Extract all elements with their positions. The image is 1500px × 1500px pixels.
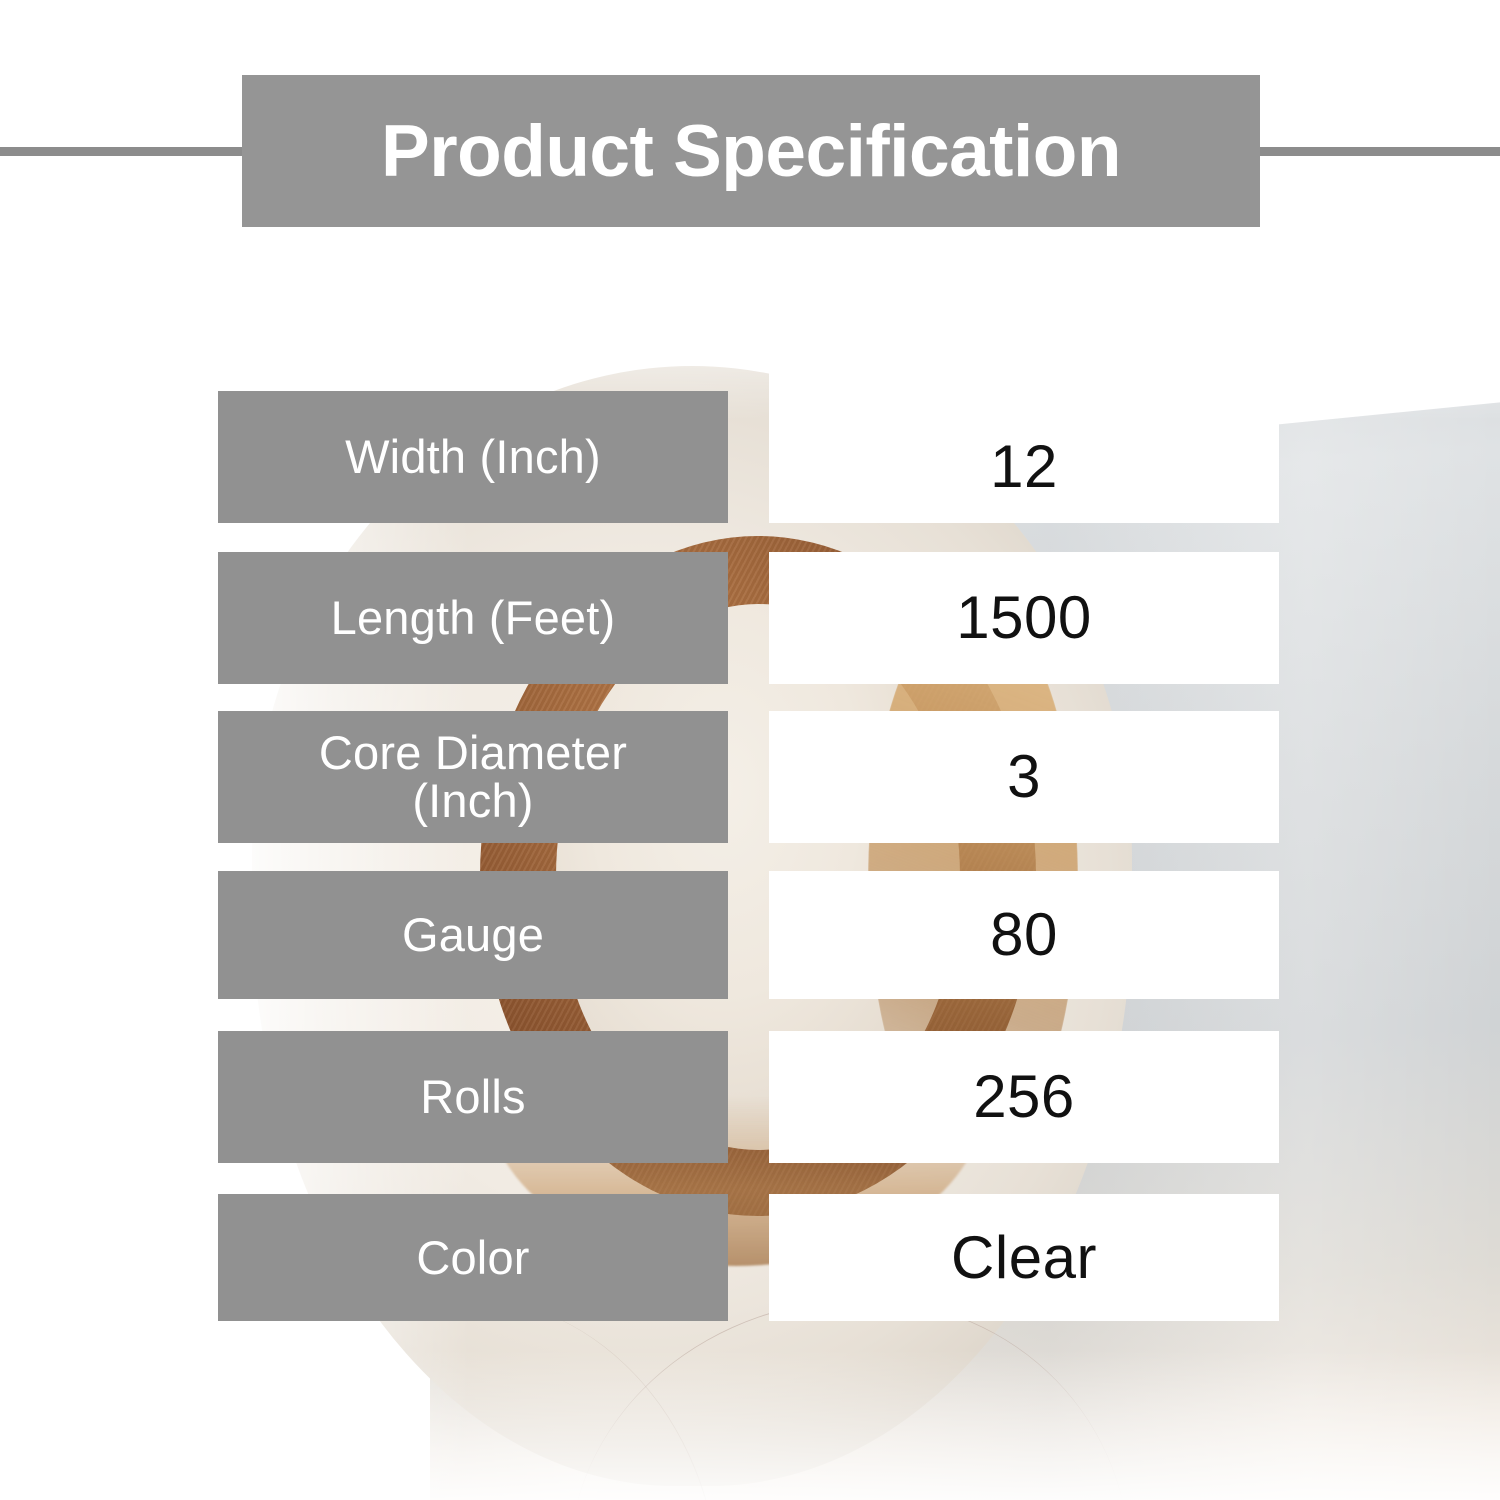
- spec-value-cell: 3: [769, 711, 1279, 843]
- spec-label-cell: Width (Inch): [218, 391, 728, 523]
- table-row: Core Diameter(Inch)3: [218, 711, 1278, 843]
- spec-label-cell: Gauge: [218, 871, 728, 999]
- spec-value-cell: 80: [769, 871, 1279, 999]
- spec-value-cell: 256: [769, 1031, 1279, 1163]
- spec-label-cell: Length (Feet): [218, 552, 728, 684]
- spec-value-cell: Clear: [769, 1194, 1279, 1321]
- spec-label-cell: Core Diameter(Inch): [218, 711, 728, 843]
- spec-label-cell: Rolls: [218, 1031, 728, 1163]
- spec-value-cell: 1500: [769, 552, 1279, 684]
- table-row: ColorClear: [218, 1194, 1278, 1321]
- table-row: Length (Feet)1500: [218, 552, 1278, 684]
- specification-table: Width (Inch)12Length (Feet)1500Core Diam…: [0, 0, 1500, 1500]
- table-row: Rolls256: [218, 1031, 1278, 1163]
- infographic-canvas: Product Specification Width (Inch)12Leng…: [0, 0, 1500, 1500]
- spec-label-cell: Color: [218, 1194, 728, 1321]
- table-row: Width (Inch)12: [218, 391, 1278, 523]
- spec-value-cell: 12: [769, 340, 1279, 523]
- table-row: Gauge80: [218, 871, 1278, 999]
